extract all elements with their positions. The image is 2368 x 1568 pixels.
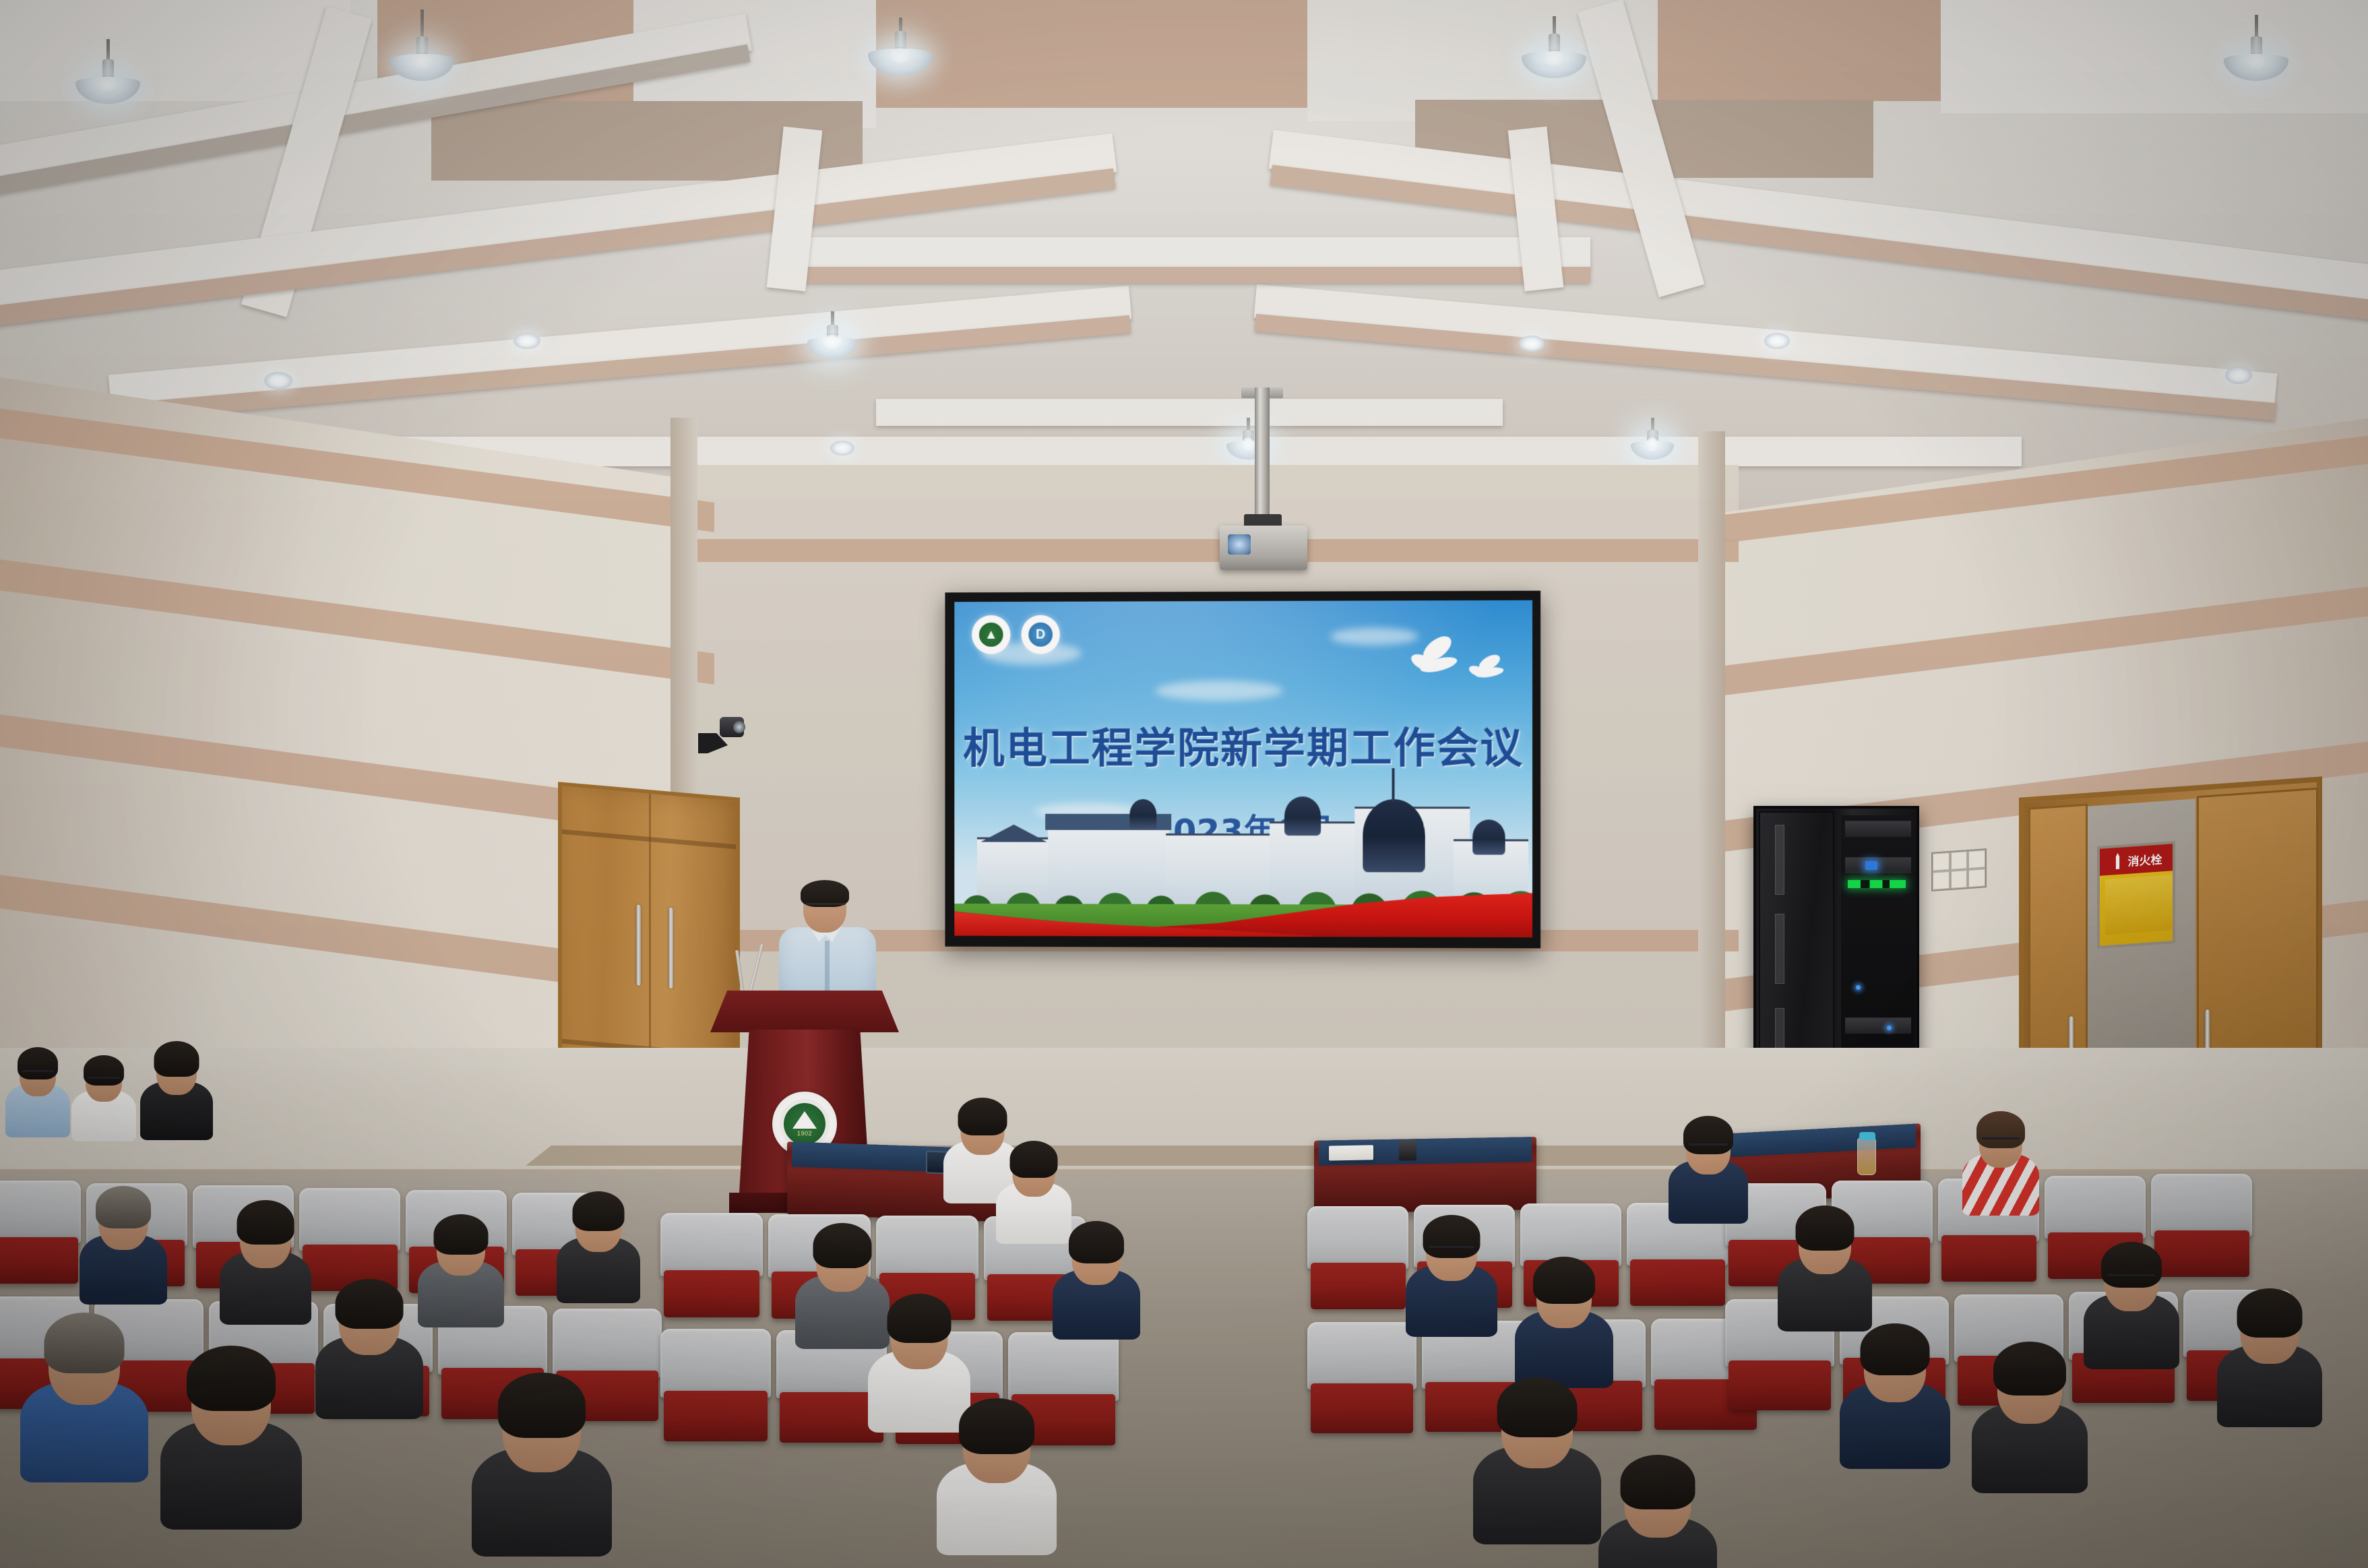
dove-icon [1406,639,1468,681]
seat-back [876,1216,978,1279]
open-notebook [1329,1145,1373,1160]
audience-member [315,1286,423,1419]
glasses-icon [1689,1143,1728,1146]
seat-cushion [0,1237,78,1284]
audience-member [80,1191,167,1305]
recessed-downlight [830,441,854,456]
hair [1423,1215,1481,1258]
audience-desk [1314,1137,1536,1214]
seat-cushion [1311,1383,1413,1434]
seat-back [299,1188,400,1251]
dove-icon [1467,656,1509,684]
audience-member [557,1197,640,1303]
pendant-dome-lamp [1522,16,1586,78]
hair [18,1047,58,1079]
pendant-dome-lamp [868,18,933,75]
hair [2237,1288,2303,1338]
projection-screen[interactable]: ▲ D 机电工程学院新学期工作会议 2023年9月 [945,591,1540,949]
wall-corner [1698,431,1725,1112]
audience-member [418,1220,504,1327]
campus-illustration [954,776,1532,937]
socket[interactable] [1951,870,1968,889]
slide-title: 机电工程学院新学期工作会议 [954,714,1532,775]
wall-socket-panel[interactable] [1931,848,1987,891]
projector-drop-pole [1255,387,1270,532]
audience-member [1515,1263,1613,1388]
audience-member [140,1046,213,1140]
hair [336,1279,404,1329]
glasses-icon [1429,1246,1474,1248]
auditorium-seat[interactable] [0,1181,81,1282]
recessed-downlight [1519,336,1545,352]
hair [44,1313,125,1373]
hair [2101,1242,2162,1288]
rack-led-green-icon [1848,880,1906,888]
audience-member [1972,1349,2088,1493]
auditorium-seat[interactable] [660,1213,763,1315]
university-emblem-green-icon: ▲ [972,615,1010,654]
pendant-dome-lamp [75,39,140,104]
recessed-downlight [2225,367,2252,384]
seat-cushion [1630,1259,1725,1306]
cloud [1330,627,1419,645]
hair [1976,1111,2025,1148]
desk-microphone [1399,1140,1416,1160]
ceiling-panel [1941,0,2368,113]
hydrant-pictogram-icon [2111,852,2125,870]
seat-back [553,1309,662,1377]
hair [187,1346,276,1411]
water-bottle [1857,1137,1876,1175]
campus-main-dome [1363,799,1425,872]
audience-member [937,1406,1057,1555]
seat-cushion [1311,1263,1406,1309]
campus-dome [1129,799,1156,830]
socket[interactable] [1951,851,1968,870]
hair [1010,1141,1058,1178]
hair [434,1214,489,1255]
campus-roof [974,825,1053,842]
hair [96,1186,151,1228]
audience-member [2084,1248,2179,1369]
audience-member [1962,1116,2039,1216]
audience-member [1669,1121,1748,1224]
hair [573,1191,625,1231]
slide-emblems: ▲ D [972,615,1060,654]
audience-member [20,1321,148,1482]
audience-member [1053,1226,1140,1340]
ceiling-beam [782,237,1590,268]
rack-led-blue-icon [1865,861,1877,870]
audience-member [1778,1212,1872,1331]
hair [1796,1205,1855,1251]
hair [1993,1342,2066,1395]
auditorium-photo: ▲ D 机电工程学院新学期工作会议 2023年9月 [0,0,2368,1568]
glasses-icon [88,1077,120,1079]
glasses-icon [2108,1274,2155,1276]
audience-member [220,1206,311,1325]
wall-camera-icon [693,713,749,757]
university-emblem-blue-icon: D [1021,615,1060,654]
seat-back [2045,1176,2146,1238]
ceiling-panel [876,0,1307,108]
seat-back [1307,1322,1416,1389]
door-handle[interactable] [636,904,641,986]
wall-stripe [687,539,1739,562]
audience-member [1598,1462,1717,1568]
hair [959,1398,1034,1454]
projector-lens-icon [1228,534,1251,555]
seat-back [1307,1206,1408,1269]
audience-member [1473,1385,1601,1544]
pendant-dome-lamp [390,9,454,81]
audience-member [1840,1330,1950,1469]
hair [813,1223,872,1268]
auditorium-seat[interactable] [299,1188,400,1289]
seat-back [660,1213,763,1276]
hair [498,1373,586,1438]
hair [958,1098,1007,1135]
socket[interactable] [1933,871,1950,890]
ceiling-projector [1220,387,1307,583]
hair [237,1200,294,1245]
cloud [1155,681,1283,701]
ceiling-beam-tan [782,267,1590,283]
seat-back [660,1329,771,1398]
audience-member [5,1051,70,1137]
seat-cushion [1728,1360,1831,1411]
ceiling-panel [0,0,350,101]
auditorium-seat[interactable] [1307,1206,1408,1307]
hair [1683,1116,1733,1154]
hair [887,1294,952,1343]
seat-back [2151,1174,2252,1236]
fire-hydrant-text: 消火栓 [2128,850,2162,869]
socket[interactable] [1968,850,1985,869]
fire-hydrant-label: 消火栓 [2100,844,2173,876]
hair [84,1055,124,1086]
hair [1861,1323,1930,1375]
slide-surface: ▲ D 机电工程学院新学期工作会议 2023年9月 [954,600,1532,938]
seat-cushion [664,1391,768,1441]
auditorium-seat[interactable] [660,1329,771,1439]
socket[interactable] [1968,869,1985,887]
podium-top [710,991,899,1032]
hair [1497,1377,1578,1437]
seat-cushion [664,1270,760,1317]
ceiling-beam [876,399,1503,426]
hydrant-glass [2105,875,2173,935]
campus-spire [1392,768,1394,802]
ceiling-beam [350,437,2022,466]
ceiling-beam [1254,284,2278,407]
hair [1533,1257,1595,1304]
campus-dome [1472,819,1505,854]
glasses-icon [22,1070,54,1072]
glasses-icon [1982,1137,2020,1139]
seat-back [0,1181,81,1243]
recessed-downlight [264,372,292,389]
seat-cushion [1941,1235,2036,1282]
hair [154,1041,199,1077]
pendant-dome-lamp [807,311,857,358]
hair [1069,1221,1124,1263]
rack-led-dot-icon [1887,1026,1892,1030]
fire-hydrant-cabinet: 消火栓 [2097,841,2175,949]
stage-edge [526,1146,1806,1166]
ceiling-panel [1658,0,1941,101]
auditorium-seat[interactable] [1307,1322,1416,1431]
door-handle[interactable] [668,908,673,989]
socket[interactable] [1933,852,1950,871]
seat-back [1008,1332,1119,1401]
audience-member [160,1354,302,1530]
pendant-dome-lamp [1631,418,1674,460]
recessed-downlight [513,333,540,349]
crest-year: 1902 [797,1130,812,1137]
audience-member [472,1381,612,1557]
audience-member [71,1059,136,1141]
rack-led-dot-icon [1856,985,1861,990]
audience-member [1406,1221,1497,1337]
campus-dome [1284,796,1321,836]
recessed-downlight [1764,333,1790,349]
pendant-dome-lamp [2224,15,2288,81]
audience-member [2217,1295,2322,1427]
glasses-icon [806,903,845,911]
hair [1621,1455,1695,1509]
